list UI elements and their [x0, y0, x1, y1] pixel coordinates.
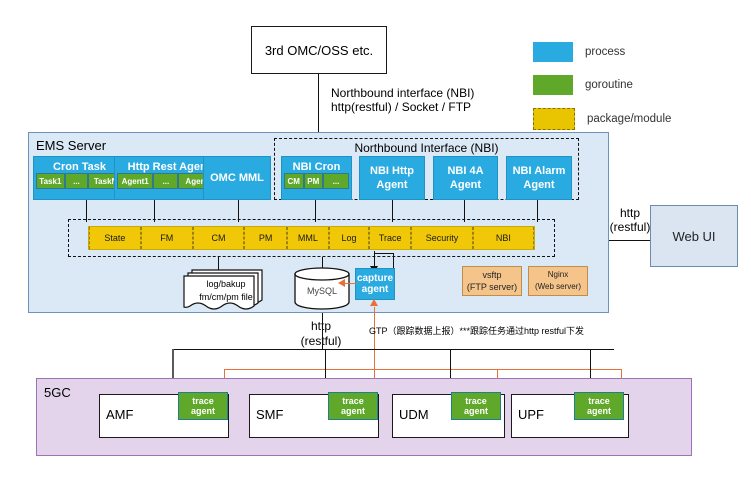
gtp-note-label: GTP（跟踪数据上报）***跟踪任务通过http restful下发	[369, 324, 584, 337]
capture-agent-line2: agent	[357, 284, 393, 295]
files-line1: log/bakup	[196, 278, 256, 291]
modules-bar: State FM CM PM MML Log Trace Security NB…	[88, 226, 535, 250]
module-security[interactable]: Security	[411, 227, 472, 249]
trace-agent-upf-line1: trace	[587, 396, 611, 406]
bus-black-horizontal	[172, 349, 614, 350]
process-nbi-http-agent-label: NBI Http Agent	[360, 164, 424, 192]
cron-task-subcell: ...	[65, 173, 88, 189]
legend-item-process: process	[533, 42, 671, 62]
web-ui-label: Web UI	[672, 229, 715, 244]
module-mml[interactable]: MML	[287, 227, 329, 249]
yellow-dashed-swatch-icon	[533, 108, 575, 130]
fivegc-title: 5GC	[44, 385, 71, 400]
legend-item-goroutine: goroutine	[533, 75, 671, 95]
node-amf-label: AMF	[106, 407, 133, 422]
arrowhead-left-mysql-icon	[338, 279, 345, 287]
process-nbi-4a-agent[interactable]: NBI 4A Agent	[433, 156, 498, 200]
legend: process goroutine package/module	[533, 42, 671, 130]
nbi-link-annotation: Northbound interface (NBI) http(restful)…	[331, 86, 474, 114]
diagram-canvas: process goroutine package/module 3rd OMC…	[0, 0, 751, 481]
third-party-omc-oss-label: 3rd OMC/OSS etc.	[265, 43, 373, 58]
process-nbi-alarm-agent[interactable]: NBI Alarm Agent	[506, 156, 572, 200]
web-ui-box[interactable]: Web UI	[650, 205, 738, 267]
trace-agent-upf-line2: agent	[587, 406, 611, 416]
cron-task-subcells: Task1 ... TaskN	[36, 173, 123, 189]
legend-item-module: package/module	[533, 108, 671, 130]
log-backup-files: log/bakup fm/cm/pm file	[182, 266, 266, 310]
bus-orange-horizontal	[224, 369, 622, 370]
connector-gtp-to-capture	[374, 307, 375, 369]
server-nginx[interactable]: Nginx (Web server)	[528, 266, 588, 296]
node-upf-label: UPF	[518, 407, 544, 422]
blue-swatch-icon	[533, 42, 573, 62]
server-vsftp-line2: (FTP server)	[467, 281, 517, 293]
mysql-database: MySQL	[292, 266, 352, 310]
nbi-link-line2: http(restful) / Socket / FTP	[331, 100, 474, 114]
capture-agent-label: capture agent	[357, 273, 393, 295]
trace-agent-smf-line2: agent	[341, 406, 365, 416]
module-fm[interactable]: FM	[141, 227, 193, 249]
http-rest-agent-subcell: ...	[153, 173, 178, 189]
nbi-cron-task-subcell: ...	[323, 173, 349, 189]
log-backup-files-label: log/bakup fm/cm/pm file	[196, 278, 256, 304]
process-nbi-4a-agent-label: NBI 4A Agent	[434, 164, 497, 192]
module-state[interactable]: State	[89, 227, 141, 249]
nbi-cron-task-subcells: CM PM ...	[284, 173, 349, 189]
green-swatch-icon	[533, 75, 573, 95]
nbi-cron-task-subcell: PM	[304, 173, 324, 189]
server-vsftp-line1: vsftp	[467, 269, 517, 281]
server-vsftp[interactable]: vsftp (FTP server)	[462, 266, 522, 296]
server-nginx-line2: (Web server)	[535, 281, 581, 293]
trace-agent-amf-line2: agent	[191, 406, 215, 416]
connector-ems-bus-drop	[322, 313, 323, 350]
http-restful-line1: http	[311, 319, 331, 334]
process-cron-task-label: Cron Task	[34, 161, 125, 173]
trace-agent-amf[interactable]: trace agent	[178, 392, 228, 420]
trace-agent-amf-line1: trace	[191, 396, 215, 406]
http-rest-agent-subcell: Agent1	[117, 173, 153, 189]
trace-agent-udm[interactable]: trace agent	[451, 392, 501, 420]
webui-link-line2: (restful)	[610, 220, 651, 234]
node-udm-label: UDM	[399, 407, 429, 422]
trace-agent-udm-line2: agent	[464, 406, 488, 416]
server-nginx-line1: Nginx	[535, 269, 581, 281]
process-omc-mml[interactable]: OMC MML	[203, 156, 271, 200]
connector-capture-to-mysql	[345, 283, 357, 284]
process-capture-agent[interactable]: capture agent	[355, 268, 395, 300]
webui-link-line1: http	[620, 206, 640, 220]
module-log[interactable]: Log	[329, 227, 369, 249]
module-nbi[interactable]: NBI	[473, 227, 534, 249]
process-nbi-alarm-agent-label: NBI Alarm Agent	[507, 164, 571, 192]
module-cm[interactable]: CM	[193, 227, 245, 249]
third-party-omc-oss-box: 3rd OMC/OSS etc.	[251, 26, 387, 74]
nbi-group-title: Northbound Interface (NBI)	[274, 140, 579, 156]
connector-capture-top-bend	[374, 253, 394, 254]
trace-agent-smf-line1: trace	[341, 396, 365, 406]
trace-agent-upf[interactable]: trace agent	[574, 392, 624, 420]
ems-server-title: EMS Server	[36, 138, 106, 153]
nbi-link-line1: Northbound interface (NBI)	[331, 86, 474, 100]
module-pm[interactable]: PM	[244, 227, 286, 249]
process-nbi-http-agent[interactable]: NBI Http Agent	[359, 156, 425, 200]
trace-agent-udm-line1: trace	[464, 396, 488, 406]
http-restful-annotation: http (restful)	[296, 317, 346, 351]
http-restful-line2: (restful)	[301, 334, 342, 349]
cron-task-subcell: Task1	[36, 173, 65, 189]
trace-agent-smf[interactable]: trace agent	[328, 392, 378, 420]
arrowhead-up-capture-icon	[370, 299, 378, 306]
process-omc-mml-label: OMC MML	[210, 172, 264, 184]
capture-agent-line1: capture	[357, 273, 393, 284]
mysql-label: MySQL	[292, 286, 352, 296]
module-trace[interactable]: Trace	[369, 227, 411, 249]
node-smf-label: SMF	[256, 407, 283, 422]
webui-link-annotation: http (restful)	[608, 203, 652, 237]
legend-label-goroutine: goroutine	[585, 79, 633, 91]
legend-label-module: package/module	[587, 113, 671, 125]
connector-ems-to-webui	[609, 240, 650, 241]
connector-omc-to-ems	[318, 74, 319, 132]
files-line2: fm/cm/pm file	[196, 291, 256, 304]
nbi-cron-task-subcell: CM	[284, 173, 304, 189]
legend-label-process: process	[585, 46, 625, 58]
